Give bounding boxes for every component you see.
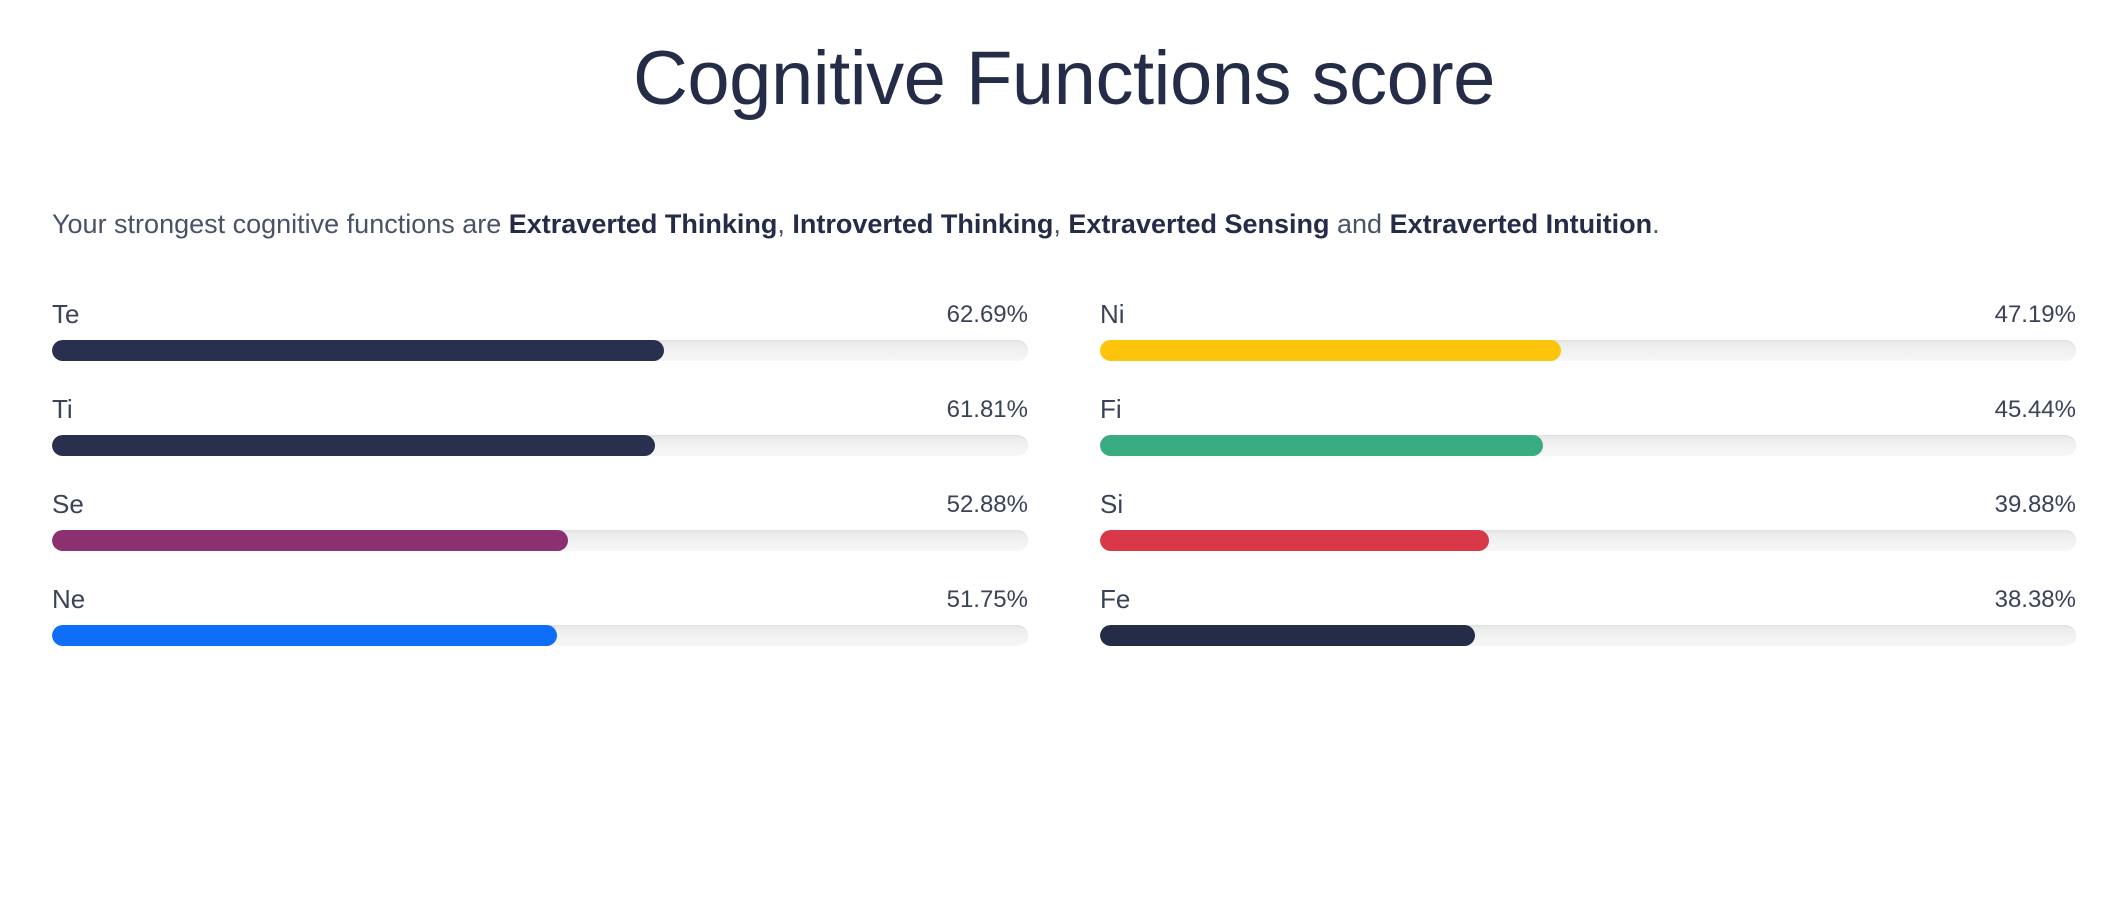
function-value: 39.88% <box>1995 493 2076 517</box>
cognitive-functions-bars: Te 62.69% Ni 47.19% Ti 61.81% <box>0 301 2128 681</box>
function-label: Ti <box>52 396 73 422</box>
summary-prefix: Your strongest cognitive functions are <box>52 209 509 239</box>
function-row: Ne 51.75% <box>52 586 1028 681</box>
progress-track <box>52 435 1028 456</box>
function-row-header: Se 52.88% <box>52 491 1028 517</box>
function-row: Fe 38.38% <box>1100 586 2076 681</box>
summary-suffix: . <box>1652 209 1660 239</box>
function-value: 51.75% <box>947 588 1028 612</box>
function-row-header: Te 62.69% <box>52 301 1028 327</box>
progress-fill <box>52 435 655 456</box>
strongest-function-2: Introverted Thinking <box>792 209 1053 239</box>
function-row-header: Fe 38.38% <box>1100 586 2076 612</box>
function-label: Si <box>1100 491 1123 517</box>
function-value: 52.88% <box>947 493 1028 517</box>
function-row: Te 62.69% <box>52 301 1028 396</box>
function-label: Fi <box>1100 396 1122 422</box>
function-row: Se 52.88% <box>52 491 1028 586</box>
function-row-header: Ni 47.19% <box>1100 301 2076 327</box>
function-label: Fe <box>1100 586 1130 612</box>
cognitive-functions-page: Cognitive Functions score Your strongest… <box>0 0 2128 918</box>
progress-fill <box>52 625 557 646</box>
summary-separator-3: and <box>1330 209 1390 239</box>
summary-section: Your strongest cognitive functions are E… <box>0 206 2128 242</box>
progress-track <box>52 625 1028 646</box>
function-label: Se <box>52 491 84 517</box>
progress-fill <box>1100 625 1475 646</box>
strongest-function-3: Extraverted Sensing <box>1068 209 1329 239</box>
summary-separator-2: , <box>1053 209 1068 239</box>
function-row: Si 39.88% <box>1100 491 2076 586</box>
progress-track <box>52 530 1028 551</box>
function-row: Fi 45.44% <box>1100 396 2076 491</box>
progress-fill <box>52 340 664 361</box>
summary-separator-1: , <box>777 209 792 239</box>
function-label: Te <box>52 301 79 327</box>
function-row: Ti 61.81% <box>52 396 1028 491</box>
function-row-header: Si 39.88% <box>1100 491 2076 517</box>
progress-track <box>52 340 1028 361</box>
function-value: 62.69% <box>947 303 1028 327</box>
page-title: Cognitive Functions score <box>0 0 2128 120</box>
function-value: 38.38% <box>1995 588 2076 612</box>
progress-fill <box>1100 340 1561 361</box>
progress-track <box>1100 435 2076 456</box>
progress-track <box>1100 625 2076 646</box>
function-value: 61.81% <box>947 398 1028 422</box>
progress-track <box>1100 530 2076 551</box>
strongest-function-1: Extraverted Thinking <box>509 209 778 239</box>
function-label: Ne <box>52 586 85 612</box>
progress-fill <box>52 530 568 551</box>
function-row-header: Fi 45.44% <box>1100 396 2076 422</box>
function-value: 47.19% <box>1995 303 2076 327</box>
progress-fill <box>1100 530 1489 551</box>
summary-text: Your strongest cognitive functions are E… <box>52 206 2076 242</box>
function-row: Ni 47.19% <box>1100 301 2076 396</box>
strongest-function-4: Extraverted Intuition <box>1390 209 1653 239</box>
function-row-header: Ne 51.75% <box>52 586 1028 612</box>
function-label: Ni <box>1100 301 1125 327</box>
progress-track <box>1100 340 2076 361</box>
function-row-header: Ti 61.81% <box>52 396 1028 422</box>
progress-fill <box>1100 435 1543 456</box>
function-value: 45.44% <box>1995 398 2076 422</box>
